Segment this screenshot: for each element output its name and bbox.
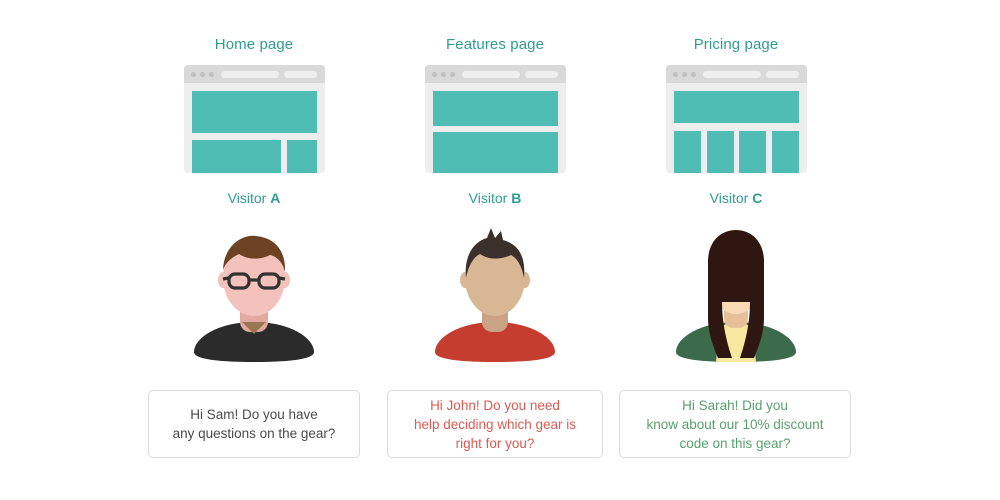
browser-dot-yellow-icon xyxy=(682,72,687,77)
browser-dot-green-icon xyxy=(691,72,696,77)
content-block-band-top xyxy=(433,91,558,126)
message-line: Hi Sarah! Did you xyxy=(646,396,823,415)
browser-address-bar xyxy=(703,71,761,78)
browser-secondary-bar xyxy=(284,71,317,78)
content-block-band-bottom xyxy=(433,132,558,173)
visitor-prefix: Visitor xyxy=(228,190,267,206)
browser-page-content-pricing xyxy=(666,83,807,173)
visitor-letter: C xyxy=(752,190,762,206)
visitor-column-c: Pricing page Visitor C xyxy=(596,0,876,500)
message-bubble-b: Hi John! Do you need help deciding which… xyxy=(387,390,603,458)
content-block-narrow xyxy=(287,140,317,173)
avatar-visitor-c xyxy=(666,222,806,362)
content-block-pricing-column xyxy=(707,131,734,173)
browser-chrome-bar xyxy=(184,65,325,83)
visitor-prefix: Visitor xyxy=(469,190,508,206)
browser-secondary-bar xyxy=(766,71,799,78)
browser-dot-yellow-icon xyxy=(441,72,446,77)
message-bubble-a: Hi Sam! Do you have any questions on the… xyxy=(148,390,360,458)
visitor-label-a: Visitor A xyxy=(114,190,394,206)
browser-dot-yellow-icon xyxy=(200,72,205,77)
browser-chrome-bar xyxy=(666,65,807,83)
message-line: Hi John! Do you need xyxy=(414,396,576,415)
visitor-label-b: Visitor B xyxy=(355,190,635,206)
page-title-features: Features page xyxy=(355,36,635,53)
visitor-label-c: Visitor C xyxy=(596,190,876,206)
browser-address-bar xyxy=(221,71,279,78)
content-block-hero xyxy=(674,91,799,123)
browser-chrome-bar xyxy=(425,65,566,83)
browser-mockup-home xyxy=(184,65,325,173)
content-block-hero xyxy=(192,91,317,133)
content-block-wide xyxy=(192,140,281,173)
browser-mockup-pricing xyxy=(666,65,807,173)
page-title-pricing: Pricing page xyxy=(596,36,876,53)
message-line: help deciding which gear is xyxy=(414,415,576,434)
browser-dot-red-icon xyxy=(191,72,196,77)
message-line: know about our 10% discount xyxy=(646,415,823,434)
browser-dot-red-icon xyxy=(432,72,437,77)
browser-dot-red-icon xyxy=(673,72,678,77)
visitor-letter: A xyxy=(270,190,280,206)
browser-dot-green-icon xyxy=(450,72,455,77)
message-bubble-c: Hi Sarah! Did you know about our 10% dis… xyxy=(619,390,851,458)
visitor-letter: B xyxy=(511,190,521,206)
visitor-prefix: Visitor xyxy=(710,190,749,206)
content-block-pricing-column xyxy=(739,131,766,173)
browser-page-content-features xyxy=(425,83,566,173)
browser-page-content-home xyxy=(184,83,325,173)
content-block-pricing-column xyxy=(772,131,799,173)
content-block-pricing-column xyxy=(674,131,701,173)
message-line: code on this gear? xyxy=(646,434,823,453)
browser-secondary-bar xyxy=(525,71,558,78)
browser-mockup-features xyxy=(425,65,566,173)
message-line: Hi Sam! Do you have xyxy=(173,405,336,424)
message-line: right for you? xyxy=(414,434,576,453)
visitor-column-a: Home page Visitor A xyxy=(114,0,394,500)
browser-dot-green-icon xyxy=(209,72,214,77)
visitor-column-b: Features page Visitor B xyxy=(355,0,635,500)
message-line: any questions on the gear? xyxy=(173,424,336,443)
avatar-visitor-b xyxy=(425,222,565,362)
page-title-home: Home page xyxy=(114,36,394,53)
avatar-visitor-a xyxy=(184,222,324,362)
diagram-canvas: Home page Visitor A xyxy=(0,0,1000,500)
browser-address-bar xyxy=(462,71,520,78)
